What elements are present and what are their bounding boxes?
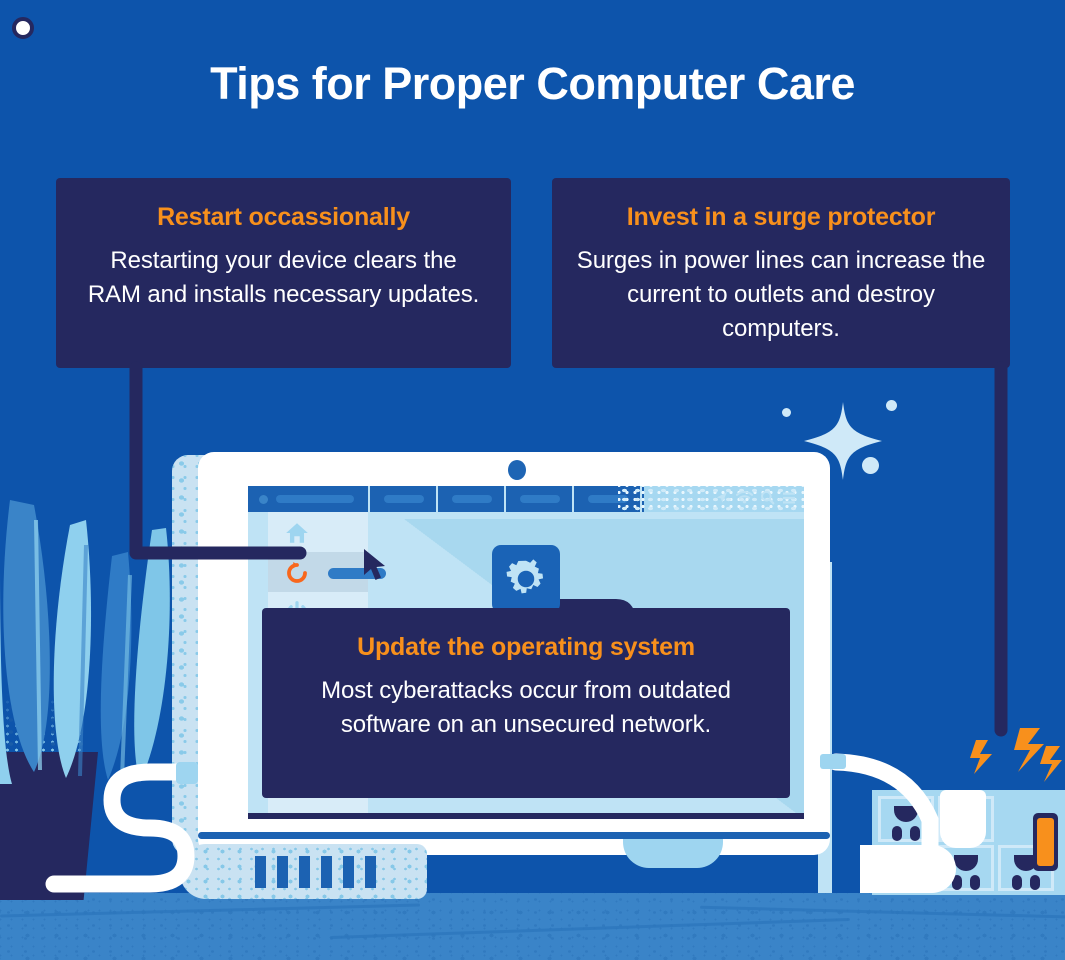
tip-card-body: Restarting your device clears the RAM an… bbox=[82, 244, 485, 312]
tip-card-surge: Invest in a surge protector Surges in po… bbox=[552, 178, 1010, 368]
base-port bbox=[12, 17, 34, 39]
settings-gear-icon[interactable] bbox=[492, 545, 560, 613]
monitor-stand-neck bbox=[623, 836, 723, 868]
vent-slot bbox=[343, 856, 354, 888]
sparkle-icon bbox=[800, 398, 886, 489]
tab-favicon bbox=[259, 495, 268, 504]
page-title: Tips for Proper Computer Care bbox=[0, 58, 1065, 110]
infographic-canvas: Tips for Proper Computer Care bbox=[0, 0, 1065, 960]
outlet-prong bbox=[970, 875, 980, 890]
vent-slot bbox=[321, 856, 332, 888]
navigation-arrow-icon[interactable] bbox=[714, 490, 729, 505]
tab-title-pill bbox=[452, 495, 492, 503]
outlet-prong bbox=[1012, 875, 1022, 890]
monitor-bottom-edge bbox=[198, 832, 830, 839]
tip-card-body: Surges in power lines can increase the c… bbox=[574, 244, 988, 346]
outlet-prong bbox=[910, 826, 920, 841]
tip-card-body: Most cyberattacks occur from outdated so… bbox=[288, 674, 764, 742]
sparkle-dot bbox=[886, 400, 897, 411]
floor-texture bbox=[0, 893, 1065, 960]
vent-slot bbox=[365, 856, 376, 888]
outlet-prong bbox=[1030, 875, 1040, 890]
tip-card-restart: Restart occassionally Restarting your de… bbox=[56, 178, 511, 368]
vent-slot bbox=[277, 856, 288, 888]
tip-card-update: Update the operating system Most cyberat… bbox=[262, 608, 790, 798]
tab-title-pill bbox=[276, 495, 354, 503]
vent-slot bbox=[255, 856, 266, 888]
sparkle-dot bbox=[782, 408, 791, 417]
tab-title-pill bbox=[520, 495, 560, 503]
tab-title-pill bbox=[384, 495, 424, 503]
tip-card-heading: Restart occassionally bbox=[82, 204, 485, 232]
outlet-ground bbox=[894, 806, 918, 822]
cable-connector bbox=[176, 762, 198, 784]
power-switch[interactable] bbox=[1033, 813, 1058, 871]
restart-icon bbox=[284, 560, 310, 586]
plug-body bbox=[860, 845, 956, 893]
vent-slot bbox=[299, 856, 310, 888]
cable-connector bbox=[820, 754, 846, 769]
home-icon bbox=[284, 520, 310, 546]
plant-pot bbox=[0, 752, 98, 900]
sidebar-item-home[interactable] bbox=[268, 512, 368, 552]
tip-card-heading: Invest in a surge protector bbox=[574, 204, 988, 232]
browser-tab-bar bbox=[248, 486, 804, 512]
screen-bottom-edge bbox=[248, 813, 804, 819]
mouse-cursor bbox=[362, 548, 392, 589]
wifi-icon[interactable] bbox=[736, 490, 753, 505]
webcam-dot bbox=[508, 460, 526, 480]
outlet-socket bbox=[878, 796, 934, 842]
status-icon-group bbox=[714, 490, 796, 505]
tip-card-heading: Update the operating system bbox=[288, 634, 764, 662]
plug-head bbox=[940, 790, 986, 848]
browser-tab[interactable] bbox=[506, 486, 574, 512]
computer-base-unit bbox=[180, 844, 427, 899]
search-icon[interactable] bbox=[760, 490, 775, 505]
browser-tab[interactable] bbox=[248, 486, 370, 512]
outlet-prong bbox=[892, 826, 902, 841]
floor-band bbox=[0, 893, 1065, 960]
plant-soil-texture bbox=[0, 690, 86, 760]
power-switch-indicator bbox=[1037, 818, 1054, 866]
outlet-ground bbox=[954, 855, 978, 871]
browser-tab[interactable] bbox=[438, 486, 506, 512]
menu-icon[interactable] bbox=[782, 491, 796, 505]
sidebar-item-restart[interactable] bbox=[268, 552, 368, 592]
browser-tab[interactable] bbox=[370, 486, 438, 512]
